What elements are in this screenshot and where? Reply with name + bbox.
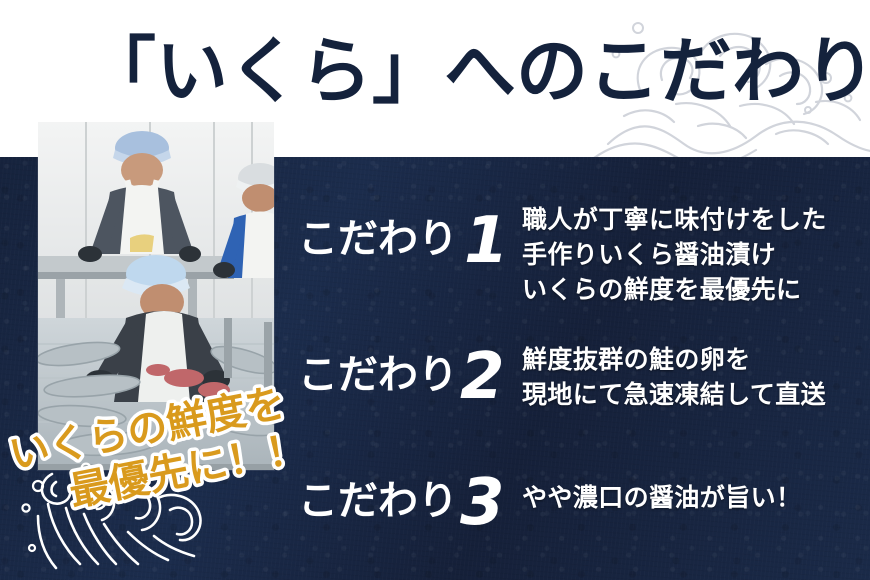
point-body-2-line-1: 鮮度抜群の鮭の卵を <box>522 342 826 377</box>
point-label-2: こだわり 2 <box>296 336 524 420</box>
point-body-2-line-2: 現地にて急速凍結して直送 <box>522 377 826 412</box>
point-body-3: やや濃口の醤油が旨い！ <box>522 480 801 515</box>
point-body-1-line-1: 職人が丁寧に味付けをした <box>522 202 827 237</box>
point-number-1: 1 <box>464 204 509 278</box>
point-label-text-3: こだわり <box>298 478 458 524</box>
point-number-3: 3 <box>460 466 505 540</box>
point-body-3-line-1: やや濃口の醤油が旨い！ <box>522 480 801 515</box>
point-body-2: 鮮度抜群の鮭の卵を 現地にて急速凍結して直送 <box>522 342 826 412</box>
point-body-1: 職人が丁寧に味付けをした 手作りいくら醤油漬け いくらの鮮度を最優先に <box>522 202 827 307</box>
promo-banner: 「いくら」へのこだわり <box>0 0 870 580</box>
point-number-2: 2 <box>460 340 505 414</box>
point-body-1-line-3: いくらの鮮度を最優先に <box>522 272 827 307</box>
page-title-text: 「いくら」へのこだわり <box>84 29 870 113</box>
page-title: 「いくら」へのこだわり <box>84 22 784 122</box>
point-label-3: こだわり 3 <box>296 462 524 546</box>
point-body-1-line-2: 手作りいくら醤油漬け <box>522 237 827 272</box>
point-label-text-1: こだわり <box>298 216 458 262</box>
point-label-text-2: こだわり <box>298 352 458 398</box>
point-label-1: こだわり 1 <box>296 200 524 284</box>
factory-photo <box>38 122 274 470</box>
